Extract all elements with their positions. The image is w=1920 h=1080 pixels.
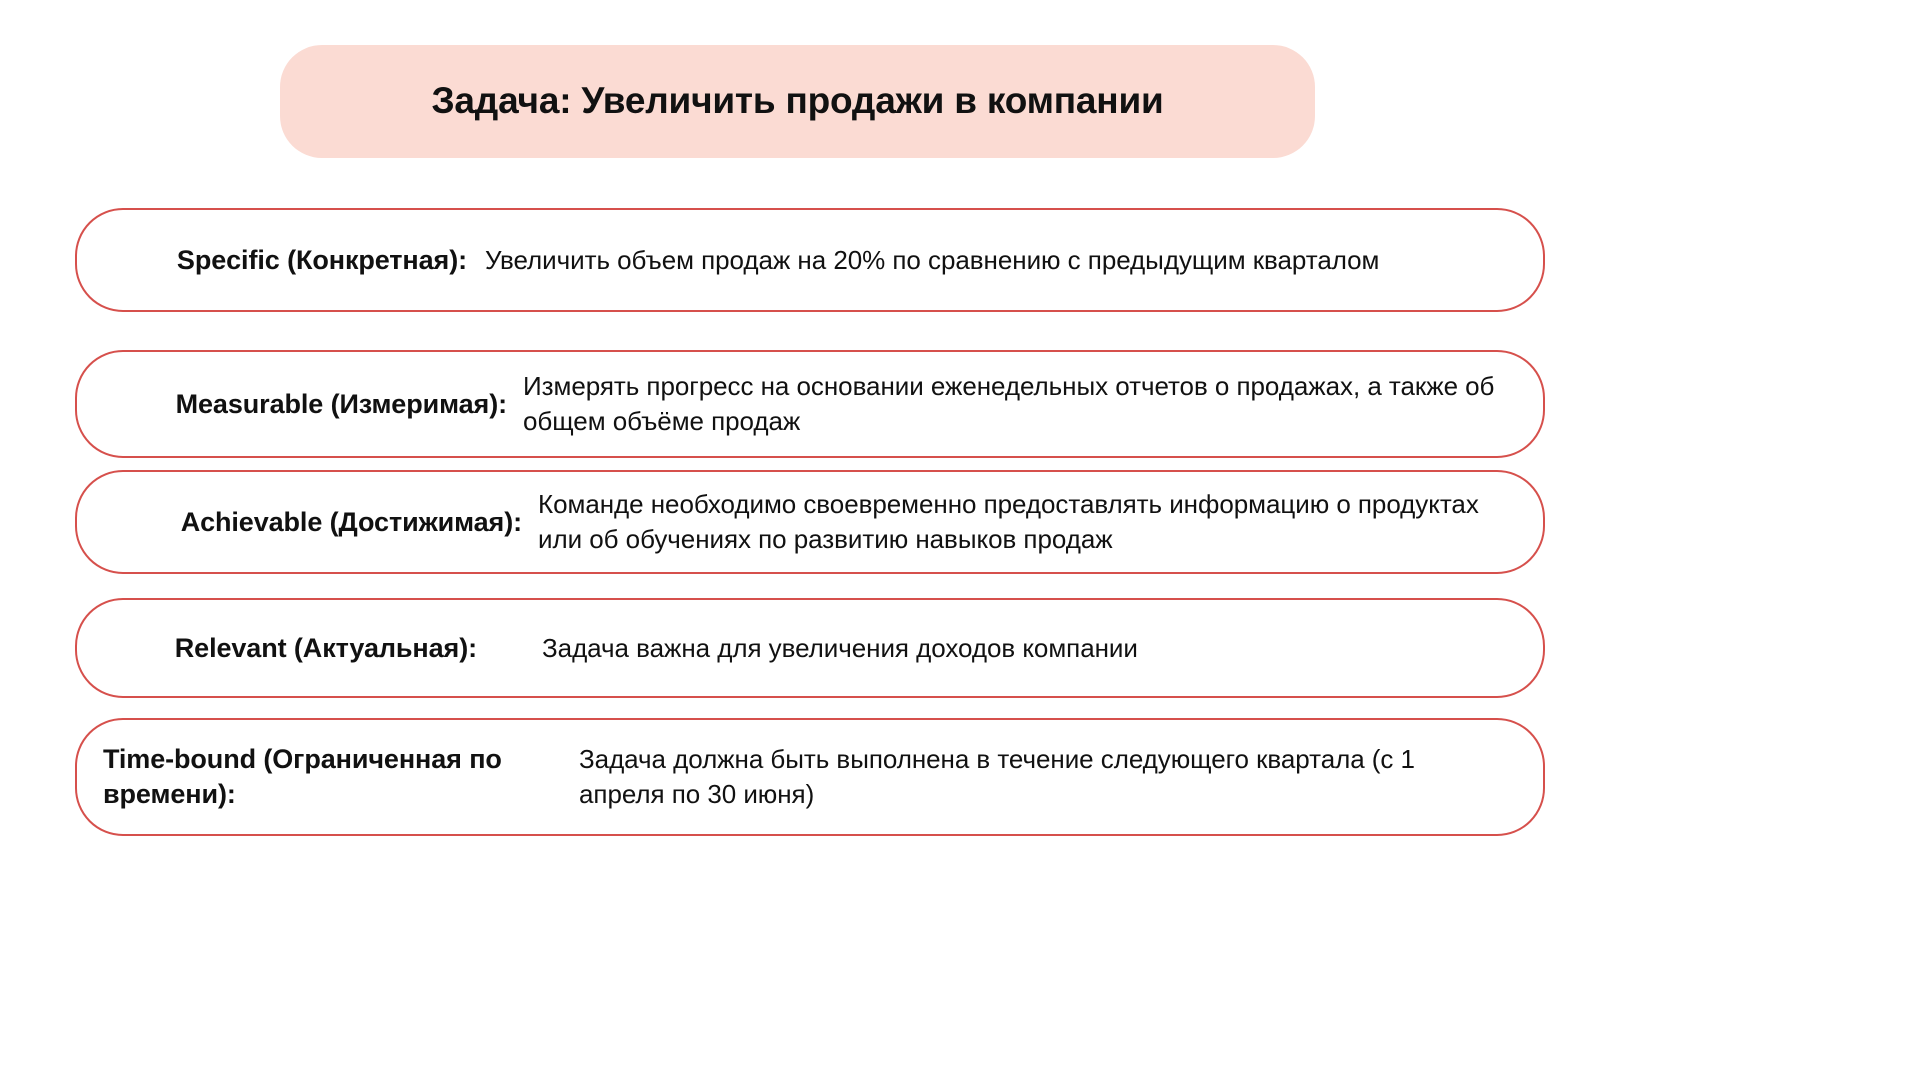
criterion-description-relevant: Задача важна для увеличения доходов комп… — [477, 631, 1543, 666]
page-title: Задача: Увеличить продажи в компании — [431, 81, 1163, 122]
smart-goal-infographic: Задача: Увеличить продажи в компании Spe… — [0, 0, 1920, 1080]
criterion-label-time-bound: Time-bound (Ограниченная по времени): — [77, 742, 547, 811]
criterion-label-relevant: Relevant (Актуальная): — [77, 631, 477, 666]
criterion-description-specific: Увеличить объем продаж на 20% по сравнен… — [467, 243, 1543, 278]
smart-criterion-card-time-bound: Time-bound (Ограниченная по времени): За… — [75, 718, 1545, 836]
smart-criterion-card-achievable: Achievable (Достижимая): Команде необход… — [75, 470, 1545, 574]
smart-criterion-card-relevant: Relevant (Актуальная): Задача важна для … — [75, 598, 1545, 698]
smart-criterion-card-specific: Specific (Конкретная): Увеличить объем п… — [75, 208, 1545, 312]
criterion-description-measurable: Измерять прогресс на основании еженедель… — [507, 369, 1543, 438]
criterion-label-specific: Specific (Конкретная): — [77, 243, 467, 278]
criterion-description-time-bound: Задача должна быть выполнена в течение с… — [547, 742, 1543, 811]
goal-header-banner: Задача: Увеличить продажи в компании — [280, 45, 1315, 158]
criterion-label-measurable: Measurable (Измеримая): — [77, 387, 507, 422]
criterion-description-achievable: Команде необходимо своевременно предоста… — [522, 487, 1543, 556]
smart-criterion-card-measurable: Measurable (Измеримая): Измерять прогрес… — [75, 350, 1545, 458]
criterion-label-achievable: Achievable (Достижимая): — [77, 505, 522, 540]
